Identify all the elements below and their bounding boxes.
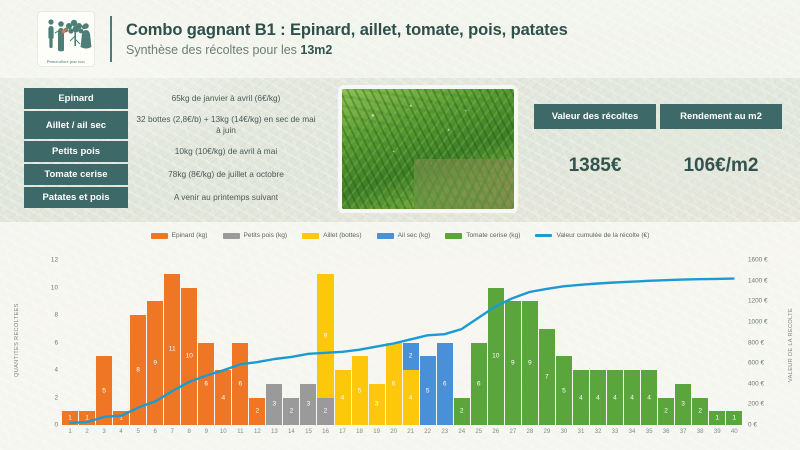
bar-column[interactable]: 2 <box>454 260 470 425</box>
table-row: Aillet / ail sec32 bottes (2,8€/b) + 13k… <box>24 111 324 139</box>
bar-value-label: 4 <box>624 394 640 401</box>
x-tick: 4 <box>113 428 129 435</box>
y-axis-left-ticks: 024681012 <box>24 260 58 425</box>
bar-segment[interactable]: 5 <box>420 356 436 425</box>
x-tick: 27 <box>505 428 521 435</box>
x-tick: 10 <box>215 428 231 435</box>
y-tick-right: 1400 € <box>748 277 782 284</box>
bar-value-label: 4 <box>573 394 589 401</box>
bar-segment[interactable]: 9 <box>147 301 163 425</box>
bar-segment[interactable]: 3 <box>675 384 691 425</box>
bar-segment[interactable]: 6 <box>386 343 402 426</box>
x-tick: 8 <box>181 428 197 435</box>
y-tick-left: 12 <box>24 257 58 264</box>
crop-detail-cell: 65kg de janvier à avril (6€/kg) <box>128 88 324 109</box>
bar-column[interactable]: 4 <box>335 260 351 425</box>
bar-column[interactable]: 5 <box>556 260 572 425</box>
legend-label: Tomate cerise (kg) <box>466 232 520 239</box>
x-tick: 12 <box>249 428 265 435</box>
y-tick-right: 800 € <box>748 339 782 346</box>
y-tick-left: 4 <box>24 367 58 374</box>
bar-value-label: 5 <box>420 387 436 394</box>
crop-detail-cell: 32 bottes (2,8€/b) + 13kg (14€/kg) en se… <box>128 111 324 139</box>
crop-name-cell: Epinard <box>24 88 128 109</box>
x-tick: 16 <box>317 428 333 435</box>
bar-column[interactable]: 4 <box>607 260 623 425</box>
bar-value-label: 6 <box>386 380 402 387</box>
bar-value-label: 2 <box>283 408 299 415</box>
bar-value-label: 5 <box>352 387 368 394</box>
x-tick: 15 <box>300 428 316 435</box>
bar-column[interactable]: 2 <box>249 260 265 425</box>
x-tick: 20 <box>386 428 402 435</box>
bar-segment[interactable]: 1 <box>709 411 725 425</box>
legend-item[interactable]: Aillet (bottes) <box>302 232 361 239</box>
bar-value-label: 2 <box>317 408 333 415</box>
bar-column[interactable]: 4 <box>573 260 589 425</box>
x-tick: 6 <box>147 428 163 435</box>
bar-value-label: 4 <box>607 394 623 401</box>
kpi-value: 106€/m2 <box>660 155 782 177</box>
bar-segment[interactable]: 10 <box>181 288 197 426</box>
kpi-label: Valeur des récoltes <box>534 104 656 129</box>
page-title: Combo gagnant B1 : Epinard, aillet, toma… <box>126 21 568 40</box>
table-row: Petits pois10kg (10€/kg) de avril à mai <box>24 141 324 162</box>
y-tick-left: 2 <box>24 394 58 401</box>
garden-photo-image <box>342 89 514 209</box>
bar-column[interactable]: 10 <box>181 260 197 425</box>
bar-column[interactable]: 5 <box>96 260 112 425</box>
bar-value-label: 9 <box>522 360 538 367</box>
legend-item[interactable]: Ail sec (kg) <box>377 232 431 239</box>
legend-label: Aillet (bottes) <box>323 232 361 239</box>
bar-column[interactable]: 92 <box>317 260 333 425</box>
x-tick: 21 <box>403 428 419 435</box>
bar-segment[interactable]: 3 <box>369 384 385 425</box>
bar-value-label: 9 <box>317 332 333 339</box>
bar-segment[interactable]: 2 <box>454 398 470 426</box>
crop-summary-table: Epinard65kg de janvier à avril (6€/kg)Ai… <box>24 88 324 210</box>
chart-panel: Epinard (kg)Petits pois (kg)Aillet (bott… <box>0 222 800 450</box>
kpi-value: 1385€ <box>534 155 656 177</box>
legend-item[interactable]: Tomate cerise (kg) <box>445 232 520 239</box>
bar-segment[interactable]: 4 <box>573 370 589 425</box>
bar-value-label: 6 <box>198 380 214 387</box>
y-tick-right: 1600 € <box>748 257 782 264</box>
bar-column[interactable]: 3 <box>369 260 385 425</box>
bar-column[interactable]: 7 <box>539 260 555 425</box>
bar-value-label: 4 <box>590 394 606 401</box>
bar-segment[interactable]: 1 <box>113 411 129 425</box>
bar-value-label: 11 <box>164 346 180 353</box>
bar-segment[interactable]: 6 <box>437 343 453 426</box>
bar-column[interactable]: 24 <box>403 260 419 425</box>
legend-label: Petits pois (kg) <box>244 232 288 239</box>
table-row: Patates et poisA venir au printemps suiv… <box>24 187 324 208</box>
x-tick: 31 <box>573 428 589 435</box>
bar-segment[interactable]: 7 <box>539 329 555 425</box>
crop-name-cell: Aillet / ail sec <box>24 111 128 139</box>
bar-column[interactable]: 2 <box>658 260 674 425</box>
x-tick: 40 <box>726 428 742 435</box>
x-tick: 9 <box>198 428 214 435</box>
bar-segment[interactable]: 2 <box>658 398 674 426</box>
crop-detail-cell: A venir au printemps suivant <box>128 187 324 208</box>
bar-segment[interactable]: 3 <box>266 384 282 425</box>
tree-family-logo-icon: Permaculture pour tous <box>38 12 94 66</box>
legend-swatch <box>151 233 168 239</box>
x-tick: 3 <box>96 428 112 435</box>
bar-series-group: 1151891110646232392453624562610997544444… <box>62 260 742 425</box>
bar-value-label: 2 <box>692 408 708 415</box>
legend-swatch <box>302 233 319 239</box>
bar-value-label: 3 <box>369 401 385 408</box>
bar-value-label: 5 <box>556 387 572 394</box>
bar-value-label: 3 <box>300 401 316 408</box>
table-row: Tomate cerise78kg (8€/kg) de juillet a o… <box>24 164 324 185</box>
bar-column[interactable]: 6 <box>437 260 453 425</box>
bar-value-label: 4 <box>641 394 657 401</box>
bar-segment[interactable]: 2 <box>249 398 265 426</box>
x-tick: 2 <box>79 428 95 435</box>
y-tick-right: 1000 € <box>748 318 782 325</box>
bar-value-label: 10 <box>181 353 197 360</box>
x-tick: 37 <box>675 428 691 435</box>
header-bar: Permaculture pour tous Combo gagnant B1 … <box>0 0 800 78</box>
x-tick: 32 <box>590 428 606 435</box>
kpi-headers: Valeur des récoltesRendement au m2 <box>534 104 782 129</box>
bar-column[interactable]: 6 <box>198 260 214 425</box>
bar-segment[interactable]: 6 <box>471 343 487 426</box>
bar-value-label: 3 <box>266 401 282 408</box>
legend-label: Epinard (kg) <box>172 232 208 239</box>
crop-name-cell: Patates et pois <box>24 187 128 208</box>
bar-segment[interactable]: 4 <box>215 370 231 425</box>
bar-segment[interactable]: 5 <box>556 356 572 425</box>
garden-photo-soil-area <box>414 159 514 209</box>
kpi-label: Rendement au m2 <box>660 104 782 129</box>
bar-value-label: 4 <box>403 394 419 401</box>
bar-column[interactable]: 2 <box>692 260 708 425</box>
bar-segment[interactable]: 3 <box>300 384 316 425</box>
bar-value-label: 1 <box>726 415 742 422</box>
bar-segment[interactable]: 4 <box>590 370 606 425</box>
bar-column[interactable]: 1 <box>62 260 78 425</box>
title-block: Combo gagnant B1 : Epinard, aillet, toma… <box>126 21 568 57</box>
bar-segment[interactable]: 9 <box>317 274 333 398</box>
bar-column[interactable]: 6 <box>232 260 248 425</box>
bar-column[interactable]: 3 <box>675 260 691 425</box>
y-tick-left: 8 <box>24 312 58 319</box>
crop-detail-cell: 78kg (8€/kg) de juillet a octobre <box>128 164 324 185</box>
bar-segment[interactable]: 2 <box>283 398 299 426</box>
legend-swatch <box>377 233 394 239</box>
legend-swatch <box>445 233 462 239</box>
bar-value-label: 6 <box>471 380 487 387</box>
y-tick-left: 0 <box>24 422 58 429</box>
x-tick: 11 <box>232 428 248 435</box>
x-tick: 25 <box>471 428 487 435</box>
x-tick: 22 <box>420 428 436 435</box>
bar-column[interactable]: 4 <box>590 260 606 425</box>
x-tick: 39 <box>709 428 725 435</box>
legend-label: Valeur cumulée de la récolte (€) <box>556 232 649 239</box>
bar-segment[interactable]: 4 <box>641 370 657 425</box>
x-tick: 33 <box>607 428 623 435</box>
bar-column[interactable]: 1 <box>726 260 742 425</box>
bar-segment[interactable]: 4 <box>403 370 419 425</box>
y-tick-left: 10 <box>24 284 58 291</box>
bar-segment[interactable]: 5 <box>352 356 368 425</box>
bar-segment[interactable]: 1 <box>62 411 78 425</box>
bar-column[interactable]: 1 <box>709 260 725 425</box>
table-row: Epinard65kg de janvier à avril (6€/kg) <box>24 88 324 109</box>
bar-segment[interactable]: 2 <box>403 343 419 371</box>
bar-column[interactable]: 2 <box>283 260 299 425</box>
title-divider <box>110 16 112 62</box>
legend-label: Ail sec (kg) <box>398 232 431 239</box>
x-tick: 14 <box>283 428 299 435</box>
legend-swatch <box>535 234 552 237</box>
bar-value-label: 2 <box>403 353 419 360</box>
x-tick: 28 <box>522 428 538 435</box>
crop-detail-cell: 10kg (10€/kg) de avril à mai <box>128 141 324 162</box>
y-tick-right: 200 € <box>748 401 782 408</box>
y-axis-right-title: VALEUR DE LA RECOLTE <box>788 270 794 420</box>
legend-item[interactable]: Petits pois (kg) <box>223 232 288 239</box>
bar-value-label: 4 <box>215 394 231 401</box>
bar-column[interactable]: 1 <box>113 260 129 425</box>
bar-segment[interactable]: 11 <box>164 274 180 425</box>
bar-value-label: 7 <box>539 373 555 380</box>
bar-value-label: 4 <box>335 394 351 401</box>
x-tick: 17 <box>335 428 351 435</box>
x-tick: 7 <box>164 428 180 435</box>
kpi-panel: Valeur des récoltesRendement au m2 1385€… <box>534 104 782 177</box>
bar-segment[interactable]: 9 <box>505 301 521 425</box>
bar-value-label: 6 <box>437 380 453 387</box>
bar-column[interactable]: 11 <box>164 260 180 425</box>
x-tick: 1 <box>62 428 78 435</box>
y-tick-right: 600 € <box>748 360 782 367</box>
bar-value-label: 6 <box>232 380 248 387</box>
crop-name-cell: Tomate cerise <box>24 164 128 185</box>
garden-photo <box>338 85 518 213</box>
y-axis-right-ticks: 0 €200 €400 €600 €800 €1000 €1200 €1400 … <box>748 260 782 425</box>
bar-column[interactable]: 4 <box>215 260 231 425</box>
x-axis-ticks: 1234567891011121314151617181920212223242… <box>62 428 742 435</box>
bar-column[interactable]: 9 <box>147 260 163 425</box>
subtitle-text: Synthèse des récoltes pour les <box>126 43 300 57</box>
bar-column[interactable]: 3 <box>300 260 316 425</box>
bar-value-label: 3 <box>675 401 691 408</box>
y-tick-right: 0 € <box>748 422 782 429</box>
x-tick: 35 <box>641 428 657 435</box>
bar-segment[interactable]: 2 <box>692 398 708 426</box>
legend-item-line[interactable]: Valeur cumulée de la récolte (€) <box>535 232 649 239</box>
bar-segment[interactable]: 1 <box>79 411 95 425</box>
bar-column[interactable]: 4 <box>641 260 657 425</box>
crop-name-cell: Petits pois <box>24 141 128 162</box>
bar-value-label: 1 <box>79 415 95 422</box>
bar-column[interactable]: 4 <box>624 260 640 425</box>
logo-caption: Permaculture pour tous <box>38 60 94 64</box>
bar-segment[interactable]: 4 <box>335 370 351 425</box>
x-tick: 5 <box>130 428 146 435</box>
chart-plot: 1151891110646232392453624562610997544444… <box>62 260 742 425</box>
bar-value-label: 9 <box>147 360 163 367</box>
bar-segment[interactable]: 2 <box>317 398 333 426</box>
bar-column[interactable]: 6 <box>386 260 402 425</box>
bar-value-label: 8 <box>130 367 146 374</box>
x-tick: 38 <box>692 428 708 435</box>
bar-value-label: 2 <box>454 408 470 415</box>
bar-column[interactable]: 9 <box>522 260 538 425</box>
x-tick: 23 <box>437 428 453 435</box>
x-tick: 30 <box>556 428 572 435</box>
subtitle-area: 13m2 <box>300 43 332 57</box>
bar-column[interactable]: 8 <box>130 260 146 425</box>
bar-value-label: 9 <box>505 360 521 367</box>
bar-segment[interactable]: 9 <box>522 301 538 425</box>
bar-segment[interactable]: 8 <box>130 315 146 425</box>
bar-segment[interactable]: 10 <box>488 288 504 426</box>
y-tick-left: 6 <box>24 339 58 346</box>
bar-segment[interactable]: 4 <box>624 370 640 425</box>
bar-column[interactable]: 1 <box>79 260 95 425</box>
y-tick-right: 400 € <box>748 380 782 387</box>
page-subtitle: Synthèse des récoltes pour les 13m2 <box>126 43 568 57</box>
bar-segment[interactable]: 5 <box>96 356 112 425</box>
x-tick: 34 <box>624 428 640 435</box>
bar-value-label: 2 <box>249 408 265 415</box>
bar-column[interactable]: 10 <box>488 260 504 425</box>
bar-column[interactable]: 3 <box>266 260 282 425</box>
x-tick: 24 <box>454 428 470 435</box>
bar-column[interactable]: 6 <box>471 260 487 425</box>
bar-segment[interactable]: 4 <box>607 370 623 425</box>
x-tick: 26 <box>488 428 504 435</box>
y-axis-left-title: QUANTITES RECOLTEES <box>14 270 20 410</box>
bar-column[interactable]: 5 <box>352 260 368 425</box>
bar-segment[interactable]: 6 <box>198 343 214 426</box>
kpi-values: 1385€106€/m2 <box>534 155 782 177</box>
bar-segment[interactable]: 6 <box>232 343 248 426</box>
plot-area: QUANTITES RECOLTEES VALEUR DE LA RECOLTE… <box>0 242 800 447</box>
bar-column[interactable]: 5 <box>420 260 436 425</box>
bar-value-label: 10 <box>488 353 504 360</box>
x-tick: 29 <box>539 428 555 435</box>
bar-value-label: 1 <box>113 415 129 422</box>
y-tick-right: 1200 € <box>748 298 782 305</box>
bar-value-label: 2 <box>658 408 674 415</box>
bar-value-label: 5 <box>96 387 112 394</box>
x-tick: 18 <box>352 428 368 435</box>
legend-swatch <box>223 233 240 239</box>
bar-value-label: 1 <box>709 415 725 422</box>
bar-value-label: 1 <box>62 415 78 422</box>
x-tick: 13 <box>266 428 282 435</box>
legend-item[interactable]: Epinard (kg) <box>151 232 208 239</box>
chart-legend: Epinard (kg)Petits pois (kg)Aillet (bott… <box>0 222 800 242</box>
x-tick: 36 <box>658 428 674 435</box>
bar-column[interactable]: 9 <box>505 260 521 425</box>
bar-segment[interactable]: 1 <box>726 411 742 425</box>
x-tick: 19 <box>369 428 385 435</box>
